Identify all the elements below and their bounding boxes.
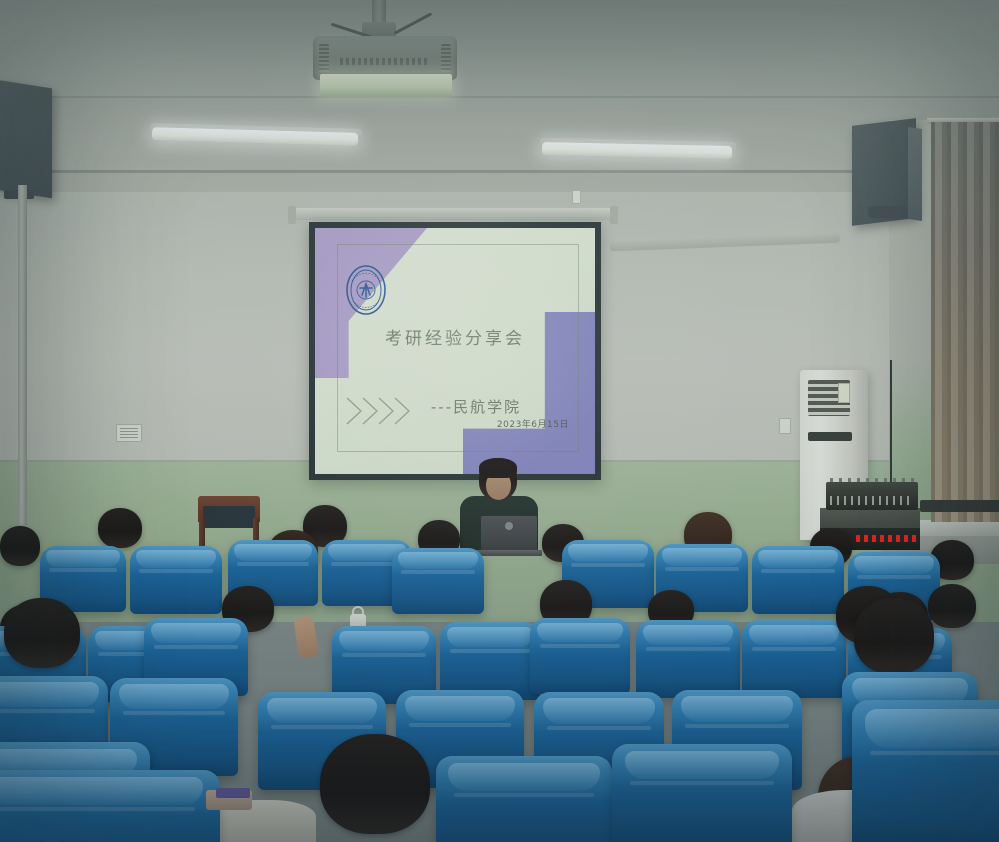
- laptop-logo-icon: [505, 522, 513, 530]
- audience-head: [928, 584, 976, 628]
- audience-head: [4, 598, 80, 668]
- projector-lens-panel: [320, 74, 452, 96]
- ceiling-seam-lower: [0, 170, 999, 173]
- auditorium-seat[interactable]: [440, 622, 540, 700]
- projection-screen-case: [292, 208, 614, 220]
- slide-chevron-arrows-icon: [345, 394, 437, 428]
- wall-speaker-left: [0, 80, 52, 199]
- slide-date: 2023年6月15日: [497, 417, 569, 430]
- vertical-pole: [18, 185, 27, 525]
- audience-head: [320, 734, 430, 834]
- window-curtain[interactable]: [931, 122, 999, 522]
- audience-head: [854, 598, 934, 674]
- auditorium-seat[interactable]: [752, 546, 844, 614]
- projector-vent-right: [441, 44, 451, 72]
- wooden-chair-seat: [203, 506, 255, 528]
- auditorium-seat[interactable]: [742, 620, 846, 698]
- auditorium-seat[interactable]: [612, 744, 792, 842]
- projected-slide: 考研经验分享会 ---民航学院 2023年6月15日: [315, 228, 595, 474]
- auditorium-seat[interactable]: [636, 620, 740, 698]
- projector-brand-label: [340, 58, 430, 65]
- projection-screen-case-end-right: [610, 206, 618, 224]
- projection-screen-case-end-left: [288, 206, 296, 224]
- auditorium-seat[interactable]: [852, 700, 999, 842]
- auditorium-seat[interactable]: [436, 756, 612, 842]
- auditorium-seat[interactable]: [130, 546, 222, 614]
- wall-speaker-right-bracket: [868, 206, 908, 218]
- wall-switch-plate: [779, 418, 791, 434]
- wall-speaker-right-side: [908, 127, 922, 221]
- university-seal-logo: [345, 264, 387, 316]
- equipment-shelf: [920, 500, 999, 512]
- air-conditioner-display-panel[interactable]: [808, 432, 852, 441]
- laptop-base: [476, 550, 542, 556]
- auditorium-seat[interactable]: [392, 548, 484, 614]
- slide-title: 考研经验分享会: [315, 324, 595, 349]
- presenter-hair: [479, 458, 517, 478]
- wall-sensor-plate: [572, 190, 581, 204]
- wall-notice-plate-text: [120, 428, 138, 438]
- lecture-hall-photo: 考研经验分享会 ---民航学院 2023年6月15日: [0, 0, 999, 842]
- projector-vent-left: [319, 44, 329, 72]
- auditorium-seat[interactable]: [0, 770, 220, 842]
- mixer-faders[interactable]: [830, 496, 914, 505]
- amplifier-led-indicators: [856, 535, 918, 542]
- wall-notice-plate: [116, 424, 142, 442]
- microphone-stand: [890, 360, 892, 490]
- ceiling-seam-upper: [0, 96, 999, 98]
- audience-head: [98, 508, 142, 548]
- air-conditioner-badge: [838, 383, 850, 403]
- auditorium-seat[interactable]: [530, 618, 630, 694]
- projection-screen[interactable]: 考研经验分享会 ---民航学院 2023年6月15日: [309, 222, 601, 480]
- audience-head: [0, 526, 40, 566]
- notebook-item: [216, 788, 250, 798]
